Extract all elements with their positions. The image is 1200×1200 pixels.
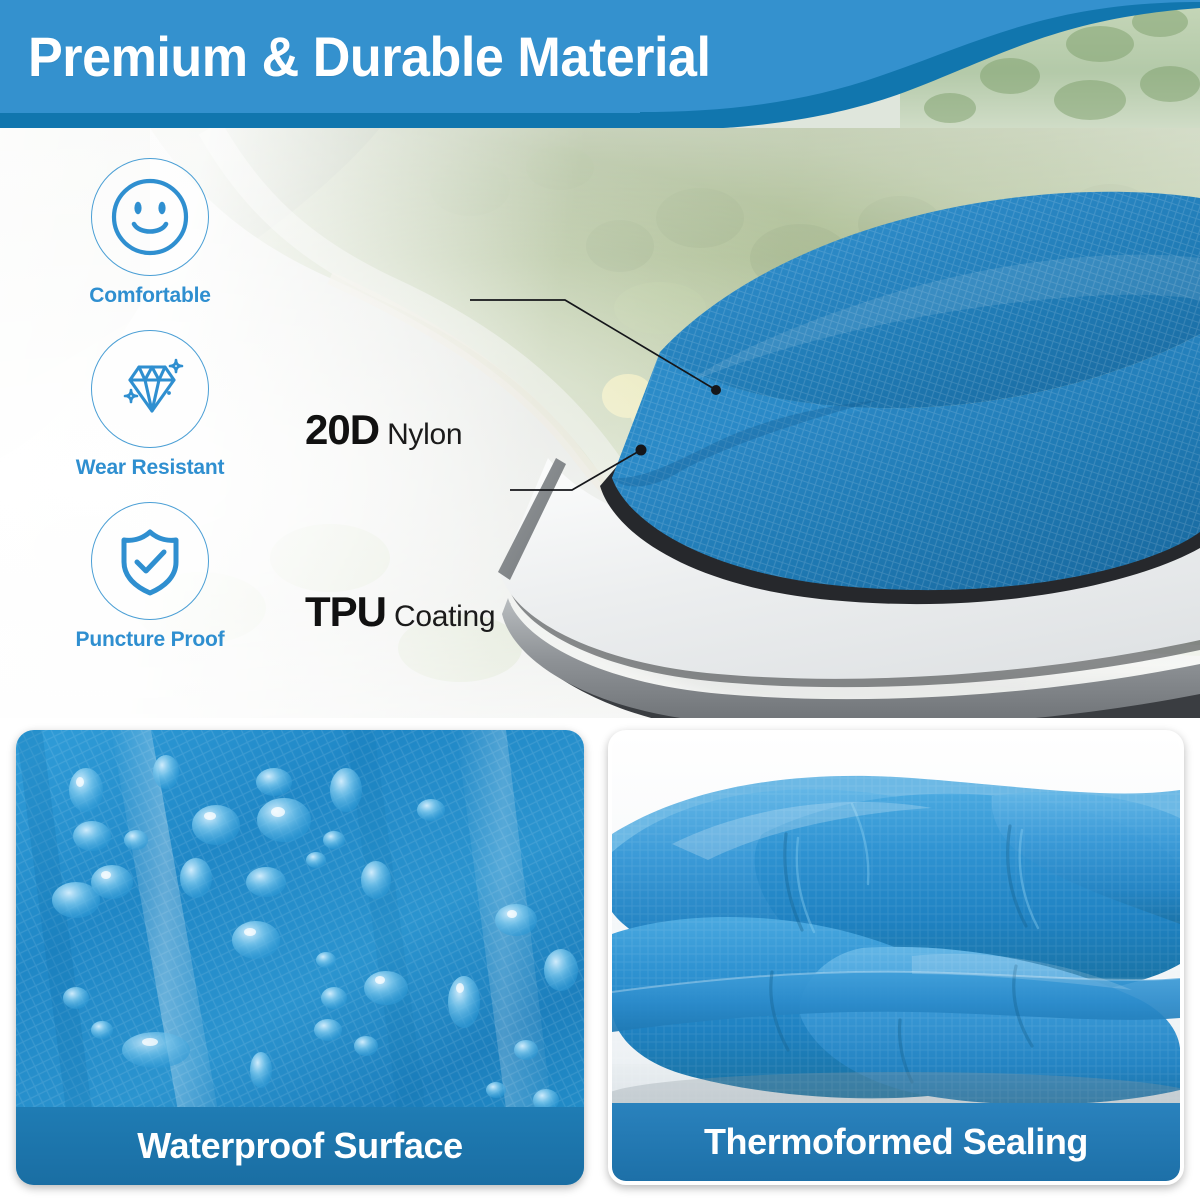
smiley-face-icon — [107, 174, 193, 260]
panel-waterproof-surface[interactable]: Waterproof Surface — [16, 730, 584, 1185]
feature-item-comfortable[interactable]: Comfortable — [35, 158, 265, 308]
header-banner: Premium & Durable Material — [0, 0, 1200, 130]
feature-item-wear-resistant[interactable]: Wear Resistant — [35, 330, 265, 480]
feature-label: Puncture Proof — [35, 628, 265, 652]
feature-icon-ring — [91, 330, 209, 448]
feature-photo-panels: Waterproof Surface — [0, 718, 1200, 1200]
feature-label: Wear Resistant — [35, 456, 265, 480]
panel-caption-thermoformed: Thermoformed Sealing — [612, 1103, 1180, 1181]
callout-nylon: 20DNylon — [305, 406, 462, 454]
feature-label: Comfortable — [35, 284, 265, 308]
callout-tpu: TPUCoating — [305, 588, 495, 636]
material-hero-section: Comfortable — [0, 128, 1200, 718]
leader-line-tpu — [510, 445, 647, 491]
feature-icon-ring — [91, 502, 209, 620]
feature-icon-ring — [91, 158, 209, 276]
page-title: Premium & Durable Material — [28, 24, 711, 89]
leader-line-nylon — [470, 300, 721, 395]
feature-list: Comfortable — [35, 158, 265, 674]
shield-check-icon — [107, 518, 193, 604]
panel-caption-waterproof: Waterproof Surface — [16, 1107, 584, 1185]
callout-tpu-type: Coating — [394, 600, 495, 633]
feature-item-puncture-proof[interactable]: Puncture Proof — [35, 502, 265, 652]
diamond-sparkle-icon — [107, 346, 193, 432]
callout-nylon-material: Nylon — [387, 418, 462, 451]
callout-tpu-material: TPU — [305, 588, 386, 635]
panel-thermoformed-sealing[interactable]: Thermoformed Sealing — [608, 730, 1184, 1185]
callout-nylon-denier: 20D — [305, 406, 379, 453]
